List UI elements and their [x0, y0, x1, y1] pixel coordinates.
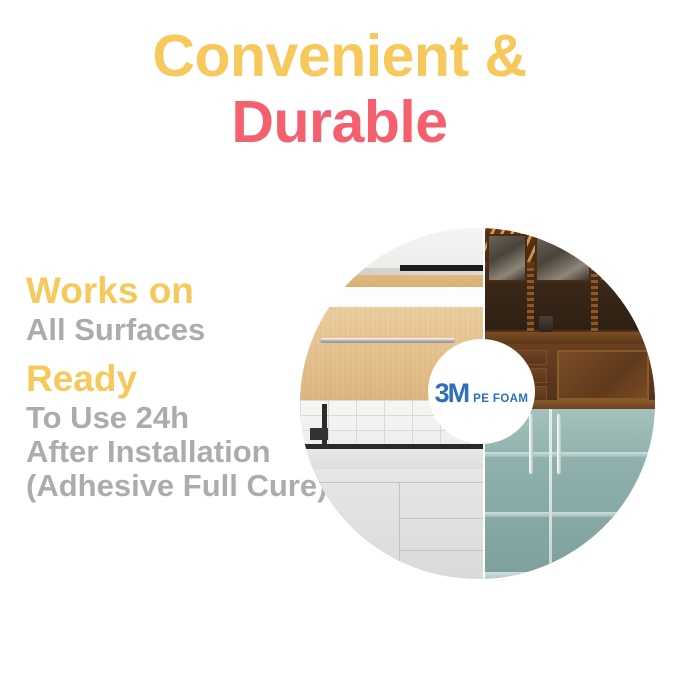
headline-block: Convenient & Durable [0, 28, 679, 152]
white-drawer-cabinet [300, 469, 483, 579]
hutch-glass-pane [599, 234, 651, 282]
hutch-glass-pane [487, 234, 527, 282]
dark-trim-strip [400, 265, 483, 271]
3m-logo: 3M [435, 380, 469, 407]
glass-shelf [483, 452, 655, 457]
poster-canvas: Convenient & Durable Works on All Surfac… [0, 0, 679, 679]
cabinet-bottom-edge [483, 572, 655, 579]
product-name-label: PE FOAM [473, 394, 528, 408]
cabinet-vertical-seam [399, 482, 400, 579]
brand-badge: 3M PE FOAM [428, 339, 535, 444]
glass-shelf [483, 512, 655, 517]
faucet-base [310, 428, 328, 440]
chrome-handle [529, 414, 533, 474]
hutch-counter-surface [483, 332, 655, 344]
hutch-glass-pane [535, 234, 591, 282]
glass-door-divider [549, 409, 552, 579]
cabinet-handle-bar [320, 338, 455, 343]
wood-shelf [324, 275, 483, 287]
faucet-fixture [322, 404, 327, 448]
headline-line-1: Convenient & [0, 28, 679, 86]
brand-badge-content: 3M PE FOAM [435, 380, 529, 407]
white-gap [300, 287, 483, 307]
kitchen-countertop [300, 449, 483, 469]
drawer-seam [400, 518, 483, 519]
turned-wood-column [591, 268, 598, 334]
countertop-jar [539, 316, 553, 332]
headline-line-2: Durable [0, 94, 679, 152]
hutch-door-panel [557, 350, 649, 400]
drawer-seam [400, 550, 483, 551]
turned-wood-column [527, 268, 534, 334]
drawer-seam [312, 482, 483, 483]
chrome-handle [557, 414, 561, 474]
